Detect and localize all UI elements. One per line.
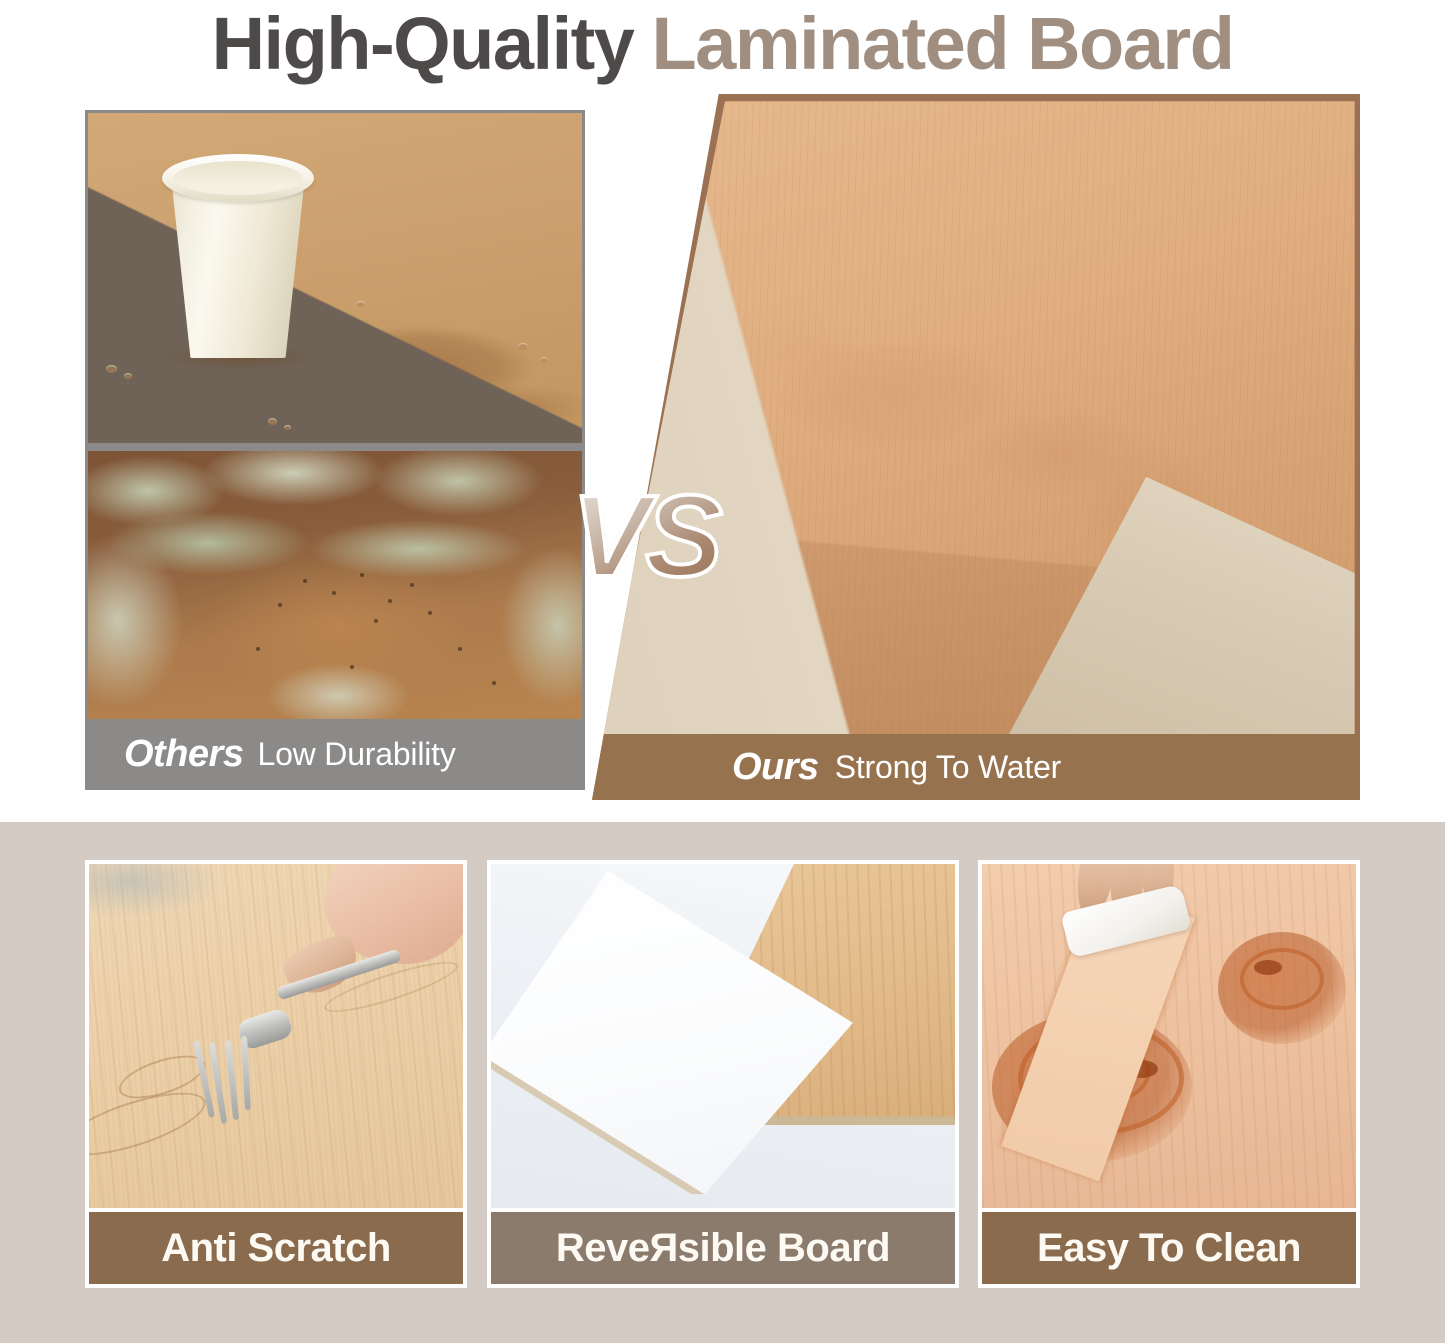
photo-water-beading-laminate <box>592 94 1360 754</box>
board-edge-highlight <box>991 477 1360 767</box>
paper-cup-icon <box>158 148 318 358</box>
comparison-panel-ours: Ours Strong To Water <box>592 94 1360 800</box>
brand-label-others: Others <box>124 735 243 773</box>
photo-mold-growth <box>88 451 582 719</box>
claim-label-others: Low Durability <box>257 738 455 770</box>
photo-reversible-board <box>491 864 955 1208</box>
page-title-part-2: Laminated Board <box>651 7 1233 81</box>
label-bar-ours: Ours Strong To Water <box>592 734 1360 800</box>
vs-badge: VS <box>572 478 719 594</box>
caption-easy-to-clean: Easy To Clean <box>1037 1228 1301 1268</box>
page-title-part-1: High-Quality <box>212 7 634 81</box>
brand-label-ours: Ours <box>732 748 819 786</box>
page-title: High-Quality Laminated Board <box>0 0 1445 88</box>
caption-reversible-board: ReveЯsible Board <box>556 1228 890 1268</box>
feature-card-anti-scratch: Anti Scratch <box>85 860 467 1288</box>
photo-fork-scratch-test <box>89 864 463 1208</box>
caption-anti-scratch: Anti Scratch <box>161 1228 391 1268</box>
comparison-panel-others: Others Low Durability <box>85 110 585 790</box>
claim-label-ours: Strong To Water <box>835 751 1061 783</box>
comparison-section: Others Low Durability Ours Strong To Wat… <box>0 88 1445 822</box>
caption-bar-reversible-board: ReveЯsible Board <box>491 1212 955 1284</box>
feature-card-reversible-board: ReveЯsible Board <box>487 860 959 1288</box>
photo-wipe-sauce-stain <box>982 864 1356 1208</box>
label-bar-others: Others Low Durability <box>88 721 582 787</box>
caption-bar-easy-to-clean: Easy To Clean <box>982 1212 1356 1284</box>
photo-paper-cup-water-spill <box>88 113 582 443</box>
feature-strip: Anti Scratch ReveЯsible Board <box>0 822 1445 1343</box>
caption-bar-anti-scratch: Anti Scratch <box>89 1212 463 1284</box>
feature-card-easy-to-clean: Easy To Clean <box>978 860 1360 1288</box>
